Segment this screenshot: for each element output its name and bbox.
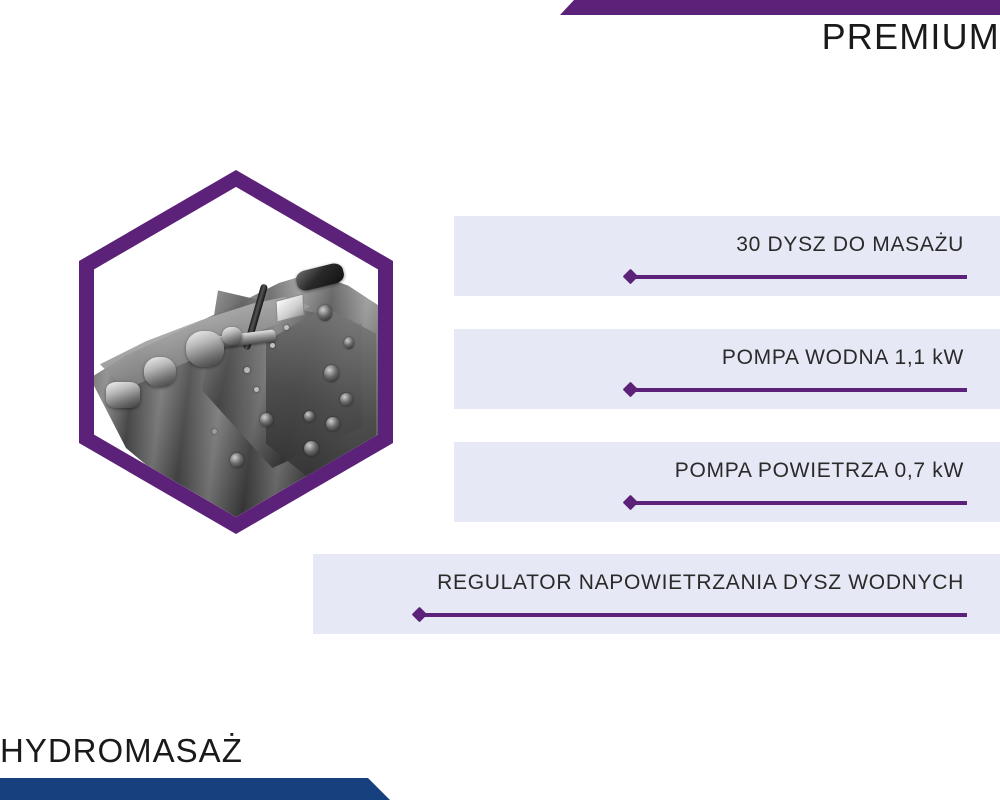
feature-label: POMPA POWIETRZA 0,7 kW bbox=[675, 458, 964, 484]
list-item: 30 DYSZ DO MASAŻU bbox=[454, 216, 1000, 296]
feature-label: POMPA WODNA 1,1 kW bbox=[722, 345, 964, 371]
list-item: REGULATOR NAPOWIETRZANIA DYSZ WODNYCH bbox=[313, 554, 1000, 634]
feature-underline bbox=[630, 501, 967, 505]
feature-underline bbox=[630, 388, 967, 392]
feature-list: 30 DYSZ DO MASAŻU POMPA WODNA 1,1 kW POM… bbox=[0, 0, 1000, 800]
feature-label: 30 DYSZ DO MASAŻU bbox=[736, 232, 964, 258]
list-item: POMPA POWIETRZA 0,7 kW bbox=[454, 442, 1000, 522]
list-item: POMPA WODNA 1,1 kW bbox=[454, 329, 1000, 409]
bottom-navy-bar bbox=[0, 778, 390, 800]
footer-title: HYDROMASAŻ bbox=[0, 732, 243, 770]
feature-underline bbox=[419, 613, 967, 617]
feature-underline bbox=[630, 275, 967, 279]
slide-root: PREMIUM bbox=[0, 0, 1000, 800]
feature-label: REGULATOR NAPOWIETRZANIA DYSZ WODNYCH bbox=[437, 570, 964, 596]
